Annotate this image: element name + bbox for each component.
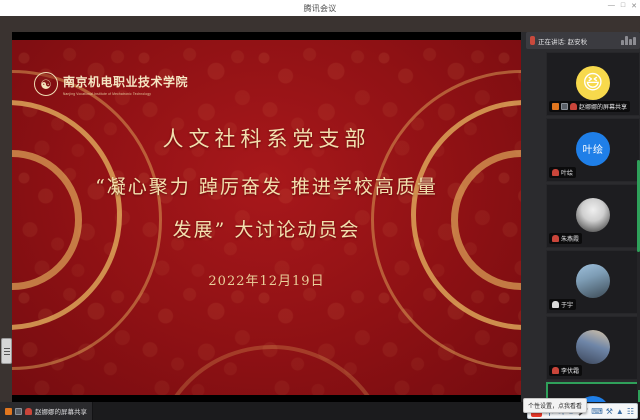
maximize-icon[interactable]: □ (621, 2, 625, 10)
participant-tile[interactable]: 😆 赵娜娜的屏幕共享 (546, 52, 640, 116)
tile-badge: 赵娜娜的屏幕共享 (549, 101, 630, 112)
avatar: 😆 (576, 66, 610, 100)
mic-muted-icon (552, 169, 559, 176)
personalize-tooltip: 个性设置，点我看看 (523, 398, 587, 413)
active-speaker-label: 正在讲话: 赵安秋 (538, 36, 587, 46)
audio-wave-icon (621, 36, 636, 45)
participant-name: 叶绘 (561, 168, 573, 177)
participant-name: 李伏霜 (561, 366, 579, 375)
participant-tile[interactable]: 朱燕霞 (546, 184, 640, 248)
keyboard-icon[interactable]: ⌨ (591, 407, 603, 416)
screen-share-icon (15, 408, 22, 415)
menu-icon[interactable]: ☷ (627, 407, 634, 416)
close-icon[interactable]: ✕ (631, 2, 637, 10)
school-name-cn: 南京机电职业技术学院 (63, 75, 188, 89)
window-controls: — □ ✕ (608, 2, 637, 10)
slide-subtitle-line1: “凝心聚力 踔厉奋发 推进学校高质量 (12, 176, 521, 199)
participant-name: 于宇 (561, 300, 573, 309)
school-seal-icon: ☯ (34, 72, 58, 96)
avatar: 叶绘 (576, 132, 610, 166)
tile-badge: 于宇 (549, 299, 576, 310)
mic-muted-icon (25, 408, 32, 415)
school-logo: ☯ 南京机电职业技术学院 Nanjing Vocational Institut… (34, 72, 188, 96)
participant-tile[interactable]: 于宇 (546, 250, 640, 314)
window-title: 腾讯会议 (304, 3, 337, 14)
taskbar-item-label: 赵娜娜的屏幕共享 (35, 406, 87, 416)
app-root: 腾讯会议 — □ ✕ ☯ 南京机电职业技术学院 Nanjing Vocation… (0, 0, 640, 420)
slide-date: 2022年12月19日 (12, 270, 521, 289)
avatar (576, 330, 610, 364)
participant-tile[interactable]: 叶绘 叶绘 (546, 118, 640, 182)
tile-badge: 李伏霜 (549, 365, 582, 376)
slide-subtitle-line2: 发展” 大讨论动员会 (12, 215, 521, 242)
participant-tiles: 😆 赵娜娜的屏幕共享 叶绘 叶绘 (546, 52, 640, 420)
tile-badge: 叶绘 (549, 167, 576, 178)
shared-slide[interactable]: ☯ 南京机电职业技术学院 Nanjing Vocational Institut… (12, 40, 521, 395)
toolbox-icon[interactable]: ⚒ (606, 407, 613, 416)
participant-rail: 正在讲话: 赵安秋 😆 赵娜娜的屏幕共享 叶绘 (521, 32, 640, 420)
slide-text-block: 人文社科系党支部 “凝心聚力 踔厉奋发 推进学校高质量 发展” 大讨论动员会 2… (12, 128, 521, 289)
participant-name: 赵娜娜的屏幕共享 (579, 102, 627, 111)
minimize-icon[interactable]: — (608, 2, 615, 10)
desktop-backdrop: ☯ 南京机电职业技术学院 Nanjing Vocational Institut… (0, 16, 640, 420)
host-icon (552, 103, 559, 110)
participant-tile[interactable]: 李伏霜 (546, 316, 640, 380)
speaking-indicator-icon (530, 36, 535, 45)
mic-muted-icon (570, 103, 577, 110)
floating-edge-toolbar[interactable] (1, 338, 12, 364)
toolbar-line-icon (4, 354, 10, 355)
participant-name: 朱燕霞 (561, 234, 579, 243)
host-icon (5, 408, 12, 415)
school-logo-text: 南京机电职业技术学院 Nanjing Vocational Institute … (63, 73, 188, 96)
mic-muted-icon (552, 367, 559, 374)
taskbar-item-screen-share[interactable]: 赵娜娜的屏幕共享 (0, 402, 93, 420)
slide-title: 人文社科系党支部 (12, 128, 521, 151)
mic-muted-icon (552, 235, 559, 242)
toolbar-line-icon (4, 348, 10, 349)
tile-badge: 朱燕霞 (549, 233, 582, 244)
school-name-en: Nanjing Vocational Institute of Mechatro… (63, 92, 188, 96)
mic-on-icon (552, 301, 559, 308)
decorative-arc-bottom (152, 345, 392, 395)
screen-share-icon (561, 103, 568, 110)
skin-icon[interactable]: ▲ (616, 407, 624, 416)
avatar (576, 264, 610, 298)
active-speaker-header[interactable]: 正在讲话: 赵安秋 (526, 32, 640, 49)
toolbar-line-icon (4, 351, 10, 352)
avatar (576, 198, 610, 232)
window-titlebar: 腾讯会议 — □ ✕ (0, 0, 640, 16)
